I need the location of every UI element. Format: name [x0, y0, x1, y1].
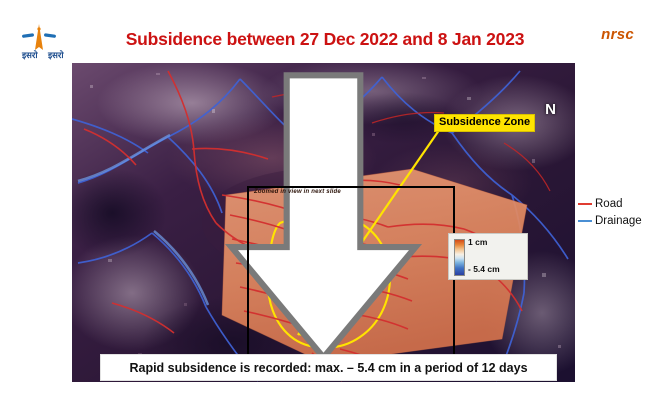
map-legend: Road Drainage	[578, 195, 648, 229]
nrsc-logo: nrsc	[601, 26, 634, 43]
road-line-swatch-icon	[578, 203, 592, 205]
legend-label-drainage: Drainage	[595, 215, 642, 227]
drainage-line-swatch-icon	[578, 220, 592, 222]
colorbar-min-label: - 5.4 cm	[468, 264, 500, 274]
isro-logo-wordmark: इसरो	[21, 50, 38, 60]
caption-text: Rapid subsidence is recorded: max. – 5.4…	[129, 361, 527, 375]
north-label: N	[545, 101, 556, 118]
zoomed-view-box[interactable]	[247, 186, 455, 363]
page-title: Subsidence between 27 Dec 2022 and 8 Jan…	[0, 29, 650, 50]
zoomed-view-label: Zoomed in view in next slide	[254, 189, 341, 195]
legend-label-road: Road	[595, 198, 623, 210]
colorbar-max-label: 1 cm	[468, 237, 487, 247]
caption-banner: Rapid subsidence is recorded: max. – 5.4…	[100, 354, 557, 381]
satellite-map[interactable]: N Subsidence Zone Zoomed in view in next…	[72, 63, 575, 382]
colorbar-gradient	[454, 239, 465, 276]
page-header: इसरो इसरो Subsidence between 27 Dec 2022…	[0, 0, 650, 63]
legend-item-drainage: Drainage	[578, 212, 648, 229]
legend-item-road: Road	[578, 195, 648, 212]
colorbar-panel: 1 cm - 5.4 cm	[448, 233, 528, 280]
subsidence-zone-label: Subsidence Zone	[434, 114, 535, 132]
svg-text:इसरो: इसरो	[47, 50, 64, 60]
